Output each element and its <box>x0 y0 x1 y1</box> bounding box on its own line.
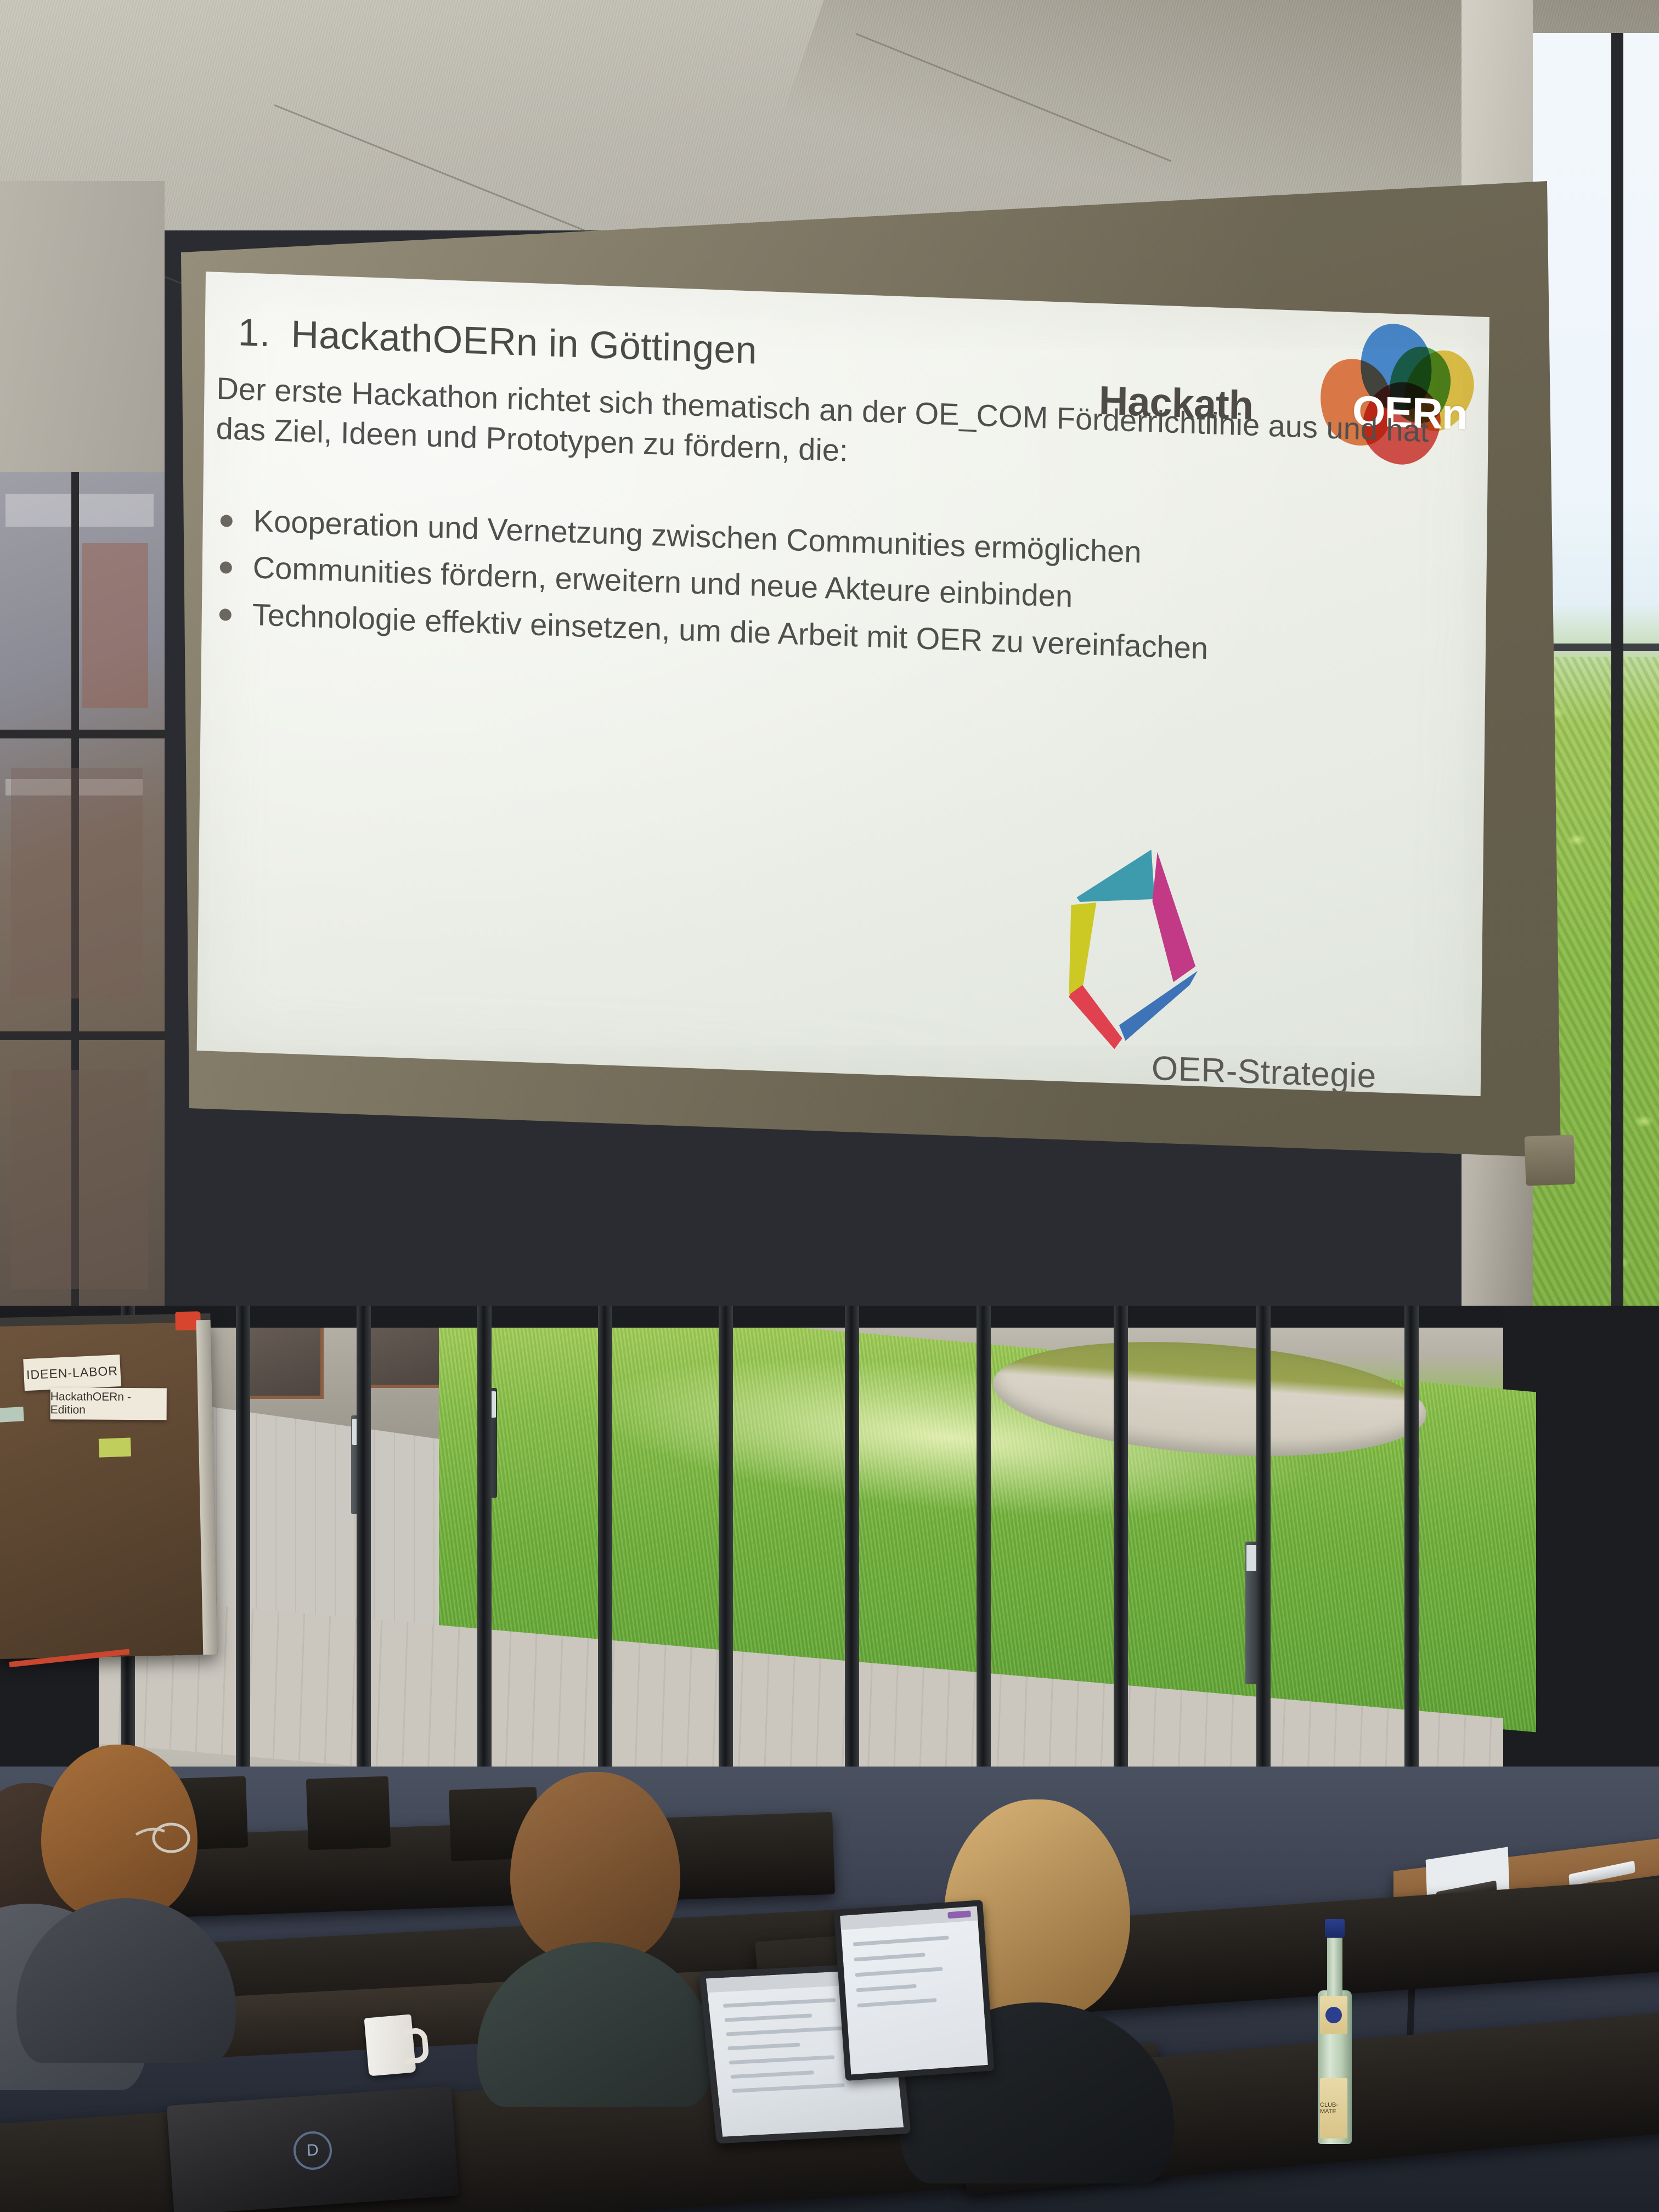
facade-mullion <box>1256 1306 1271 1799</box>
slide-bullet-list: Kooperation und Vernetzung zwischen Comm… <box>213 498 1466 683</box>
facade-mullion <box>1404 1306 1419 1799</box>
facade-mullion <box>357 1306 371 1799</box>
bottle-seal-icon <box>1325 2007 1342 2023</box>
laptop-dell[interactable]: D <box>167 2086 459 2212</box>
facade-mullion <box>719 1306 733 1799</box>
browser-toolbar <box>840 1906 978 1930</box>
lecture-hall-photo: OERn Hackath 1.HackathOERn in Göttingen … <box>0 0 1659 2212</box>
sticky-note-green <box>0 1407 24 1423</box>
ceiling-seam <box>855 33 1171 162</box>
pinboard-sign-bottom: HackathOERn - Edition <box>50 1387 167 1420</box>
glasses-icon <box>132 1816 208 1865</box>
coffee-mug <box>364 2014 416 2076</box>
bottle-neck <box>1327 1933 1342 1999</box>
window-left <box>0 472 165 1306</box>
slide-number: 1. <box>238 310 270 355</box>
projected-slide: OERn Hackath 1.HackathOERn in Göttingen … <box>165 181 1569 1421</box>
slide-title-text: HackathOERn in Göttingen <box>291 313 757 372</box>
seat-back <box>306 1776 391 1850</box>
pinboard-sign-top: IDEEN-LABOR <box>23 1355 121 1391</box>
oer-strategie-logo: OER-Strategie <box>1052 836 1417 1096</box>
projection-screen: OERn Hackath 1.HackathOERn in Göttingen … <box>165 181 1569 1421</box>
facade-mullion <box>977 1306 991 1799</box>
facade-mullion <box>1114 1306 1128 1799</box>
club-mate-bottle: CLUB-MATE <box>1317 1914 1353 2144</box>
lower-room: D CL <box>0 1306 1659 2212</box>
dell-logo-icon: D <box>292 2130 334 2171</box>
bottle-label-bottom: CLUB-MATE <box>1320 2078 1347 2138</box>
facade-head <box>99 1306 1503 1328</box>
oer-strategie-label: OER-Strategie <box>1152 1049 1376 1096</box>
person-head <box>510 1772 680 1964</box>
facade-mullion <box>477 1306 492 1799</box>
facade-mullion <box>845 1306 859 1799</box>
bottle-label-top <box>1320 1996 1347 2034</box>
glazed-facade <box>99 1306 1503 1799</box>
bottle-brand: CLUB-MATE <box>1320 2102 1347 2115</box>
bottle-cap <box>1325 1919 1345 1938</box>
pinboard: IDEEN-LABOR HackathOERn - Edition <box>0 1320 217 1659</box>
window-mullion-vertical <box>1611 33 1623 1361</box>
facade-mullion <box>236 1306 250 1799</box>
sticky-note-yellow <box>99 1437 131 1457</box>
laptop-open-right[interactable] <box>833 1900 994 2081</box>
facade-mullion <box>598 1306 612 1799</box>
oer-strategie-hexagon-icon <box>1053 836 1291 1064</box>
